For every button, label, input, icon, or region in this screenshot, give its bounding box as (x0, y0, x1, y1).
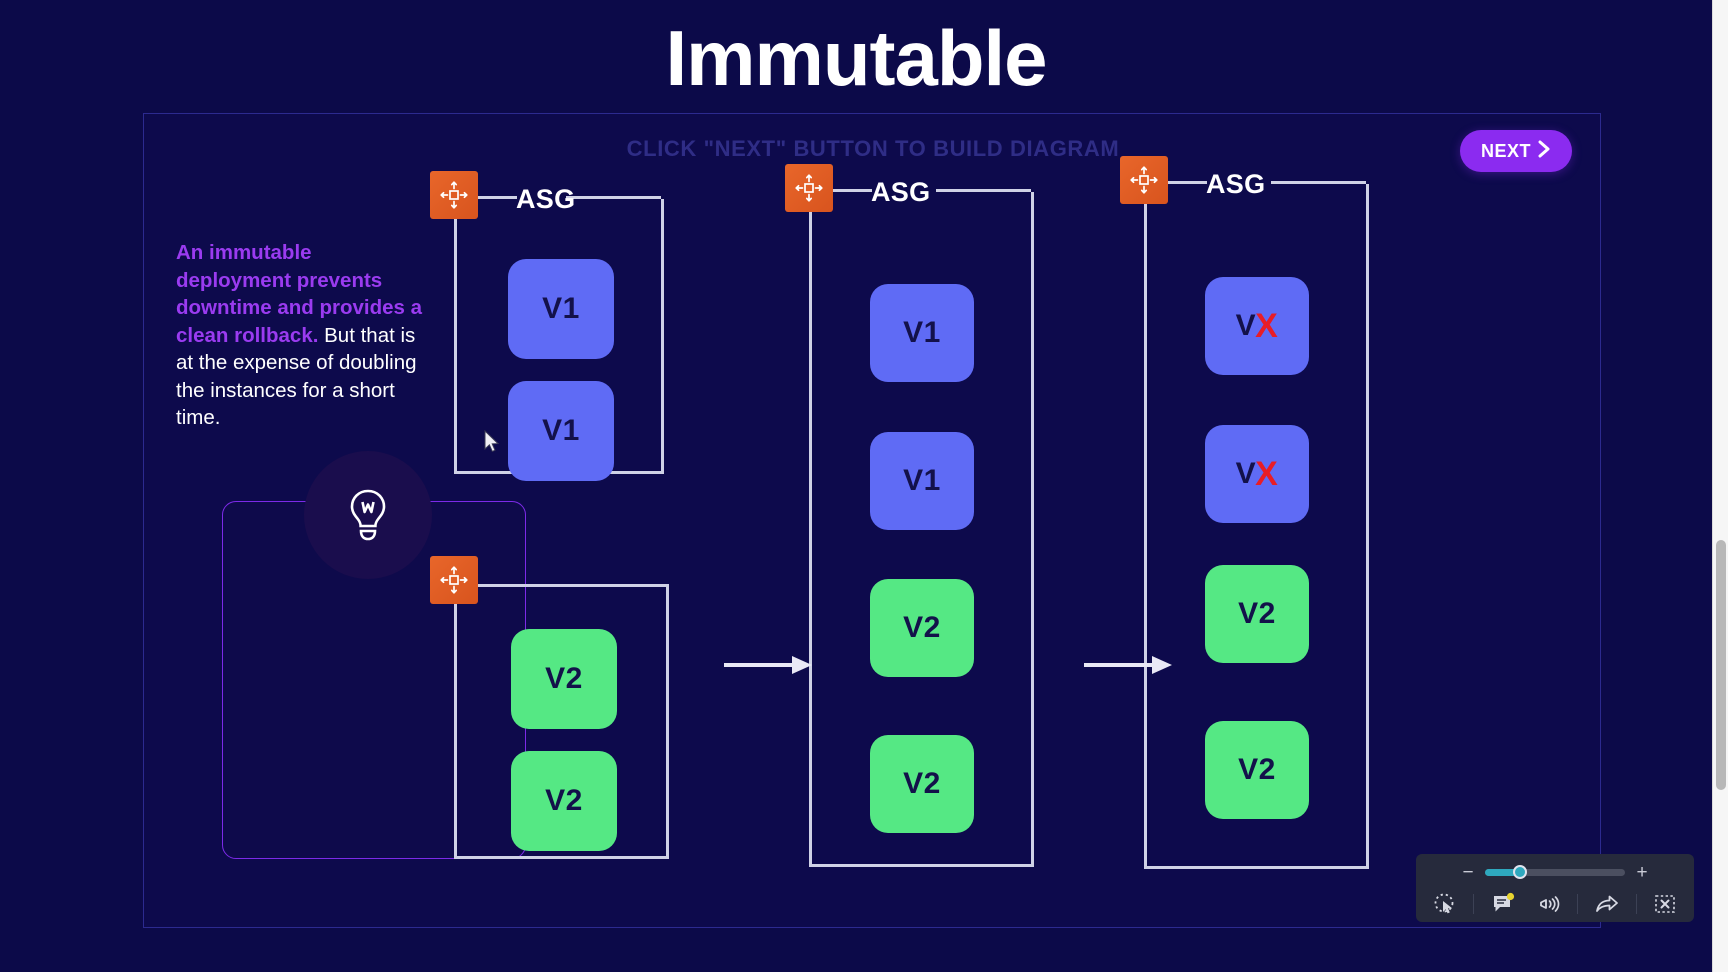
asg-group-3: ASG VX VX V2 V2 (1144, 169, 1369, 869)
instance-label: V2 (1238, 597, 1276, 631)
page-title: Immutable (0, 12, 1712, 104)
toolbar-divider (1636, 894, 1637, 914)
instance-label: V1 (542, 292, 580, 326)
instance-label: V (1236, 457, 1257, 491)
instance-box: V2 (870, 579, 974, 677)
share-icon[interactable] (1590, 889, 1624, 919)
toolbar-buttons (1416, 886, 1694, 922)
retired-x-icon: X (1255, 307, 1278, 346)
lightbulb-icon (304, 451, 432, 579)
asg-label: ASG (516, 184, 575, 215)
floating-toolbar: − + (1416, 854, 1694, 922)
instance-label: V2 (903, 767, 941, 801)
toolbar-divider (1473, 894, 1474, 914)
instance-box: V2 (511, 751, 617, 851)
instance-label: V1 (903, 464, 941, 498)
zoom-in-button[interactable]: + (1635, 863, 1649, 882)
zoom-out-button[interactable]: − (1461, 863, 1475, 882)
instance-box-retired: VX (1205, 425, 1309, 523)
zoom-control: − + (1416, 860, 1694, 884)
instance-box: V1 (870, 284, 974, 382)
next-button-label: NEXT (1481, 141, 1531, 162)
instance-box: V1 (508, 259, 614, 359)
zoom-slider-track[interactable] (1485, 869, 1625, 876)
asg-group-2: ASG V1 V1 V2 V2 (809, 177, 1034, 867)
page-scrollbar[interactable] (1712, 0, 1728, 972)
close-icon[interactable] (1648, 889, 1682, 919)
toolbar-divider (1577, 894, 1578, 914)
callout-text: An immutable deployment prevents downtim… (176, 239, 426, 432)
instance-box: V1 (870, 432, 974, 530)
instance-label: V1 (542, 414, 580, 448)
instance-label: V1 (903, 316, 941, 350)
build-hint-text: CLICK "NEXT" BUTTON TO BUILD DIAGRAM (144, 136, 1602, 162)
zoom-slider-handle[interactable] (1513, 865, 1527, 879)
instance-box: V2 (1205, 721, 1309, 819)
select-cursor-icon[interactable] (1428, 889, 1462, 919)
asg-group-1b: V2 V2 (454, 569, 669, 859)
app-root: Immutable CLICK "NEXT" BUTTON TO BUILD D… (0, 0, 1728, 972)
comment-icon[interactable] (1486, 889, 1520, 919)
instance-box: V2 (511, 629, 617, 729)
instance-box: V2 (1205, 565, 1309, 663)
mouse-cursor (484, 430, 500, 459)
chevron-right-icon (1538, 140, 1551, 163)
speaker-icon[interactable] (1532, 889, 1566, 919)
instance-box-retired: VX (1205, 277, 1309, 375)
instance-label: V2 (1238, 753, 1276, 787)
instance-box: V1 (508, 381, 614, 481)
instance-box: V2 (870, 735, 974, 833)
flow-arrow-1 (724, 654, 814, 681)
instance-label: V2 (545, 662, 583, 696)
instance-label: V2 (545, 784, 583, 818)
asg-label: ASG (1206, 169, 1265, 200)
instance-label: V (1236, 309, 1257, 343)
asg-label: ASG (871, 177, 930, 208)
scrollbar-thumb[interactable] (1716, 540, 1726, 790)
diagram-canvas: CLICK "NEXT" BUTTON TO BUILD DIAGRAM NEX… (143, 113, 1601, 928)
next-button[interactable]: NEXT (1460, 130, 1572, 172)
auto-scaling-group-icon (785, 164, 833, 212)
instance-label: V2 (903, 611, 941, 645)
auto-scaling-group-icon (430, 171, 478, 219)
auto-scaling-group-icon (430, 556, 478, 604)
auto-scaling-group-icon (1120, 156, 1168, 204)
flow-arrow-2 (1084, 654, 1174, 681)
retired-x-icon: X (1255, 455, 1278, 494)
